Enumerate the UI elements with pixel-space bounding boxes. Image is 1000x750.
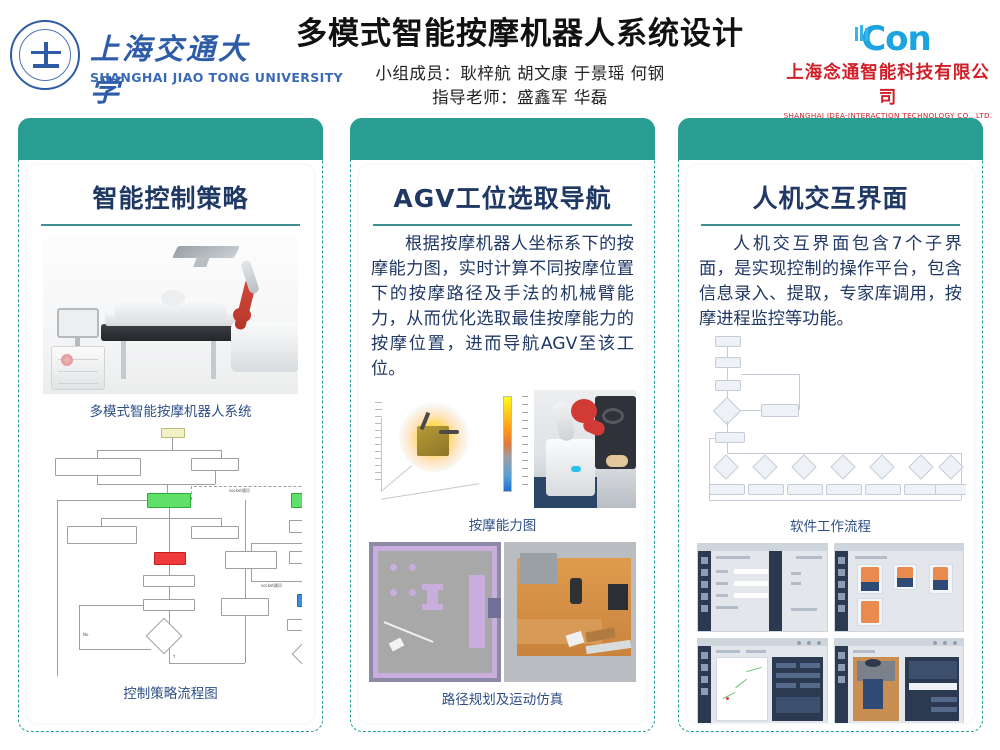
panel-body: 智能控制策略 多模式智能按摩机器人系统 <box>27 165 314 723</box>
figure-caption-system: 多模式智能按摩机器人系统 <box>27 400 314 420</box>
advisors-line: 指导老师：盛鑫军 华磊 <box>250 84 790 108</box>
colorbar-ticks <box>522 396 528 492</box>
control-strategy-flowchart: socket通讯 No Y <box>39 426 302 676</box>
agv-robot-photo <box>534 390 636 508</box>
flow-label-socket-1: socket通讯 <box>229 488 250 494</box>
panel-title: 人机交互界面 <box>687 179 974 215</box>
sjtu-logo: 上海交通大学 SHANGHAI JIAO TONG UNIVERSITY <box>6 18 264 100</box>
flow-node-strategy-platform-left <box>147 493 191 508</box>
flow-decision-diamond-right <box>292 635 302 672</box>
poster-header: 上海交通大学 SHANGHAI JIAO TONG UNIVERSITY 多模式… <box>0 0 1000 112</box>
figure-caption-software-workflow: 软件工作流程 <box>687 515 974 535</box>
ui-screenshot-monitoring <box>834 638 965 723</box>
flow-label-yes-left: Y <box>173 654 175 659</box>
panel-agv-navigation: AGV工位选取导航 根据按摩机器人坐标系下的按摩能力图，实时计算不同按摩位置下的… <box>350 118 655 732</box>
flow-node-strategy-platform-right <box>291 493 302 508</box>
title-divider <box>41 224 300 226</box>
motion-simulation-view <box>504 542 636 682</box>
panel-control-strategy: 智能控制策略 多模式智能按摩机器人系统 <box>18 118 323 732</box>
operation-ui-screenshots <box>697 543 964 723</box>
poster-root: 上海交通大学 SHANGHAI JIAO TONG UNIVERSITY 多模式… <box>0 0 1000 750</box>
team-members-line: 小组成员：耿梓航 胡文康 于景瑶 何钢 <box>250 60 790 84</box>
path-simulation-row <box>369 542 636 682</box>
massage-capability-3d-plot <box>369 390 497 508</box>
software-workflow-diagram <box>695 334 966 509</box>
panel-header-band <box>18 118 323 160</box>
panel-title: AGV工位选取导航 <box>359 179 646 215</box>
flow-node-feedback-blue <box>297 594 302 607</box>
panel-header-band <box>350 118 655 160</box>
sponsor-logo: Con 上海念通智能科技有限公司 SHANGHAI IDEA-INTERACTI… <box>782 20 994 104</box>
flow-node-decision-red <box>154 552 186 565</box>
ui-screenshot-body-selection <box>834 543 965 633</box>
ui-screenshot-force-curve <box>697 638 828 723</box>
flow-node-start <box>161 428 185 438</box>
ui-screenshot-info-entry <box>697 543 828 633</box>
panel-header-band <box>678 118 983 160</box>
panel-body: 人机交互界面 人机交互界面包含7个子界面，是实现控制的操作平台，包含信息录入、提… <box>687 165 974 723</box>
econ-wordmark: Con <box>782 20 994 58</box>
panel-body-text: 人机交互界面包含7个子界面，是实现控制的操作平台，包含信息录入、提取，专家库调用… <box>687 226 974 332</box>
figure-caption-capability-map: 按摩能力图 <box>359 514 646 534</box>
capability-map-row <box>369 390 636 508</box>
flow-label-socket-2: socket通讯 <box>261 583 282 589</box>
massage-robot-system-photo <box>43 236 298 394</box>
panel-body: AGV工位选取导航 根据按摩机器人坐标系下的按摩能力图，实时计算不同按摩位置下的… <box>359 165 646 723</box>
econ-mark-text: Con <box>861 19 931 59</box>
flow-label-no-left: No <box>83 632 88 637</box>
university-name-cn: 上海交通大学 <box>90 26 264 110</box>
panel-hmi: 人机交互界面 人机交互界面包含7个子界面，是实现控制的操作平台，包含信息录入、提… <box>678 118 983 732</box>
sjtu-seal-icon <box>10 20 80 90</box>
figure-caption-path-simulation: 路径规划及运动仿真 <box>359 688 646 708</box>
panel-title: 智能控制策略 <box>27 179 314 215</box>
path-planning-map <box>369 542 501 682</box>
sponsor-company-cn: 上海念通智能科技有限公司 <box>782 59 994 109</box>
poster-title: 多模式智能按摩机器人系统设计 <box>250 8 790 53</box>
hand-icon <box>855 25 871 43</box>
colorbar <box>503 396 512 492</box>
flow-decision-diamond-left <box>146 617 183 654</box>
figure-caption-flowchart: 控制策略流程图 <box>27 682 314 702</box>
panel-body-text: 根据按摩机器人坐标系下的按摩能力图，实时计算不同按摩位置下的按摩路径及手法的机械… <box>359 226 646 382</box>
